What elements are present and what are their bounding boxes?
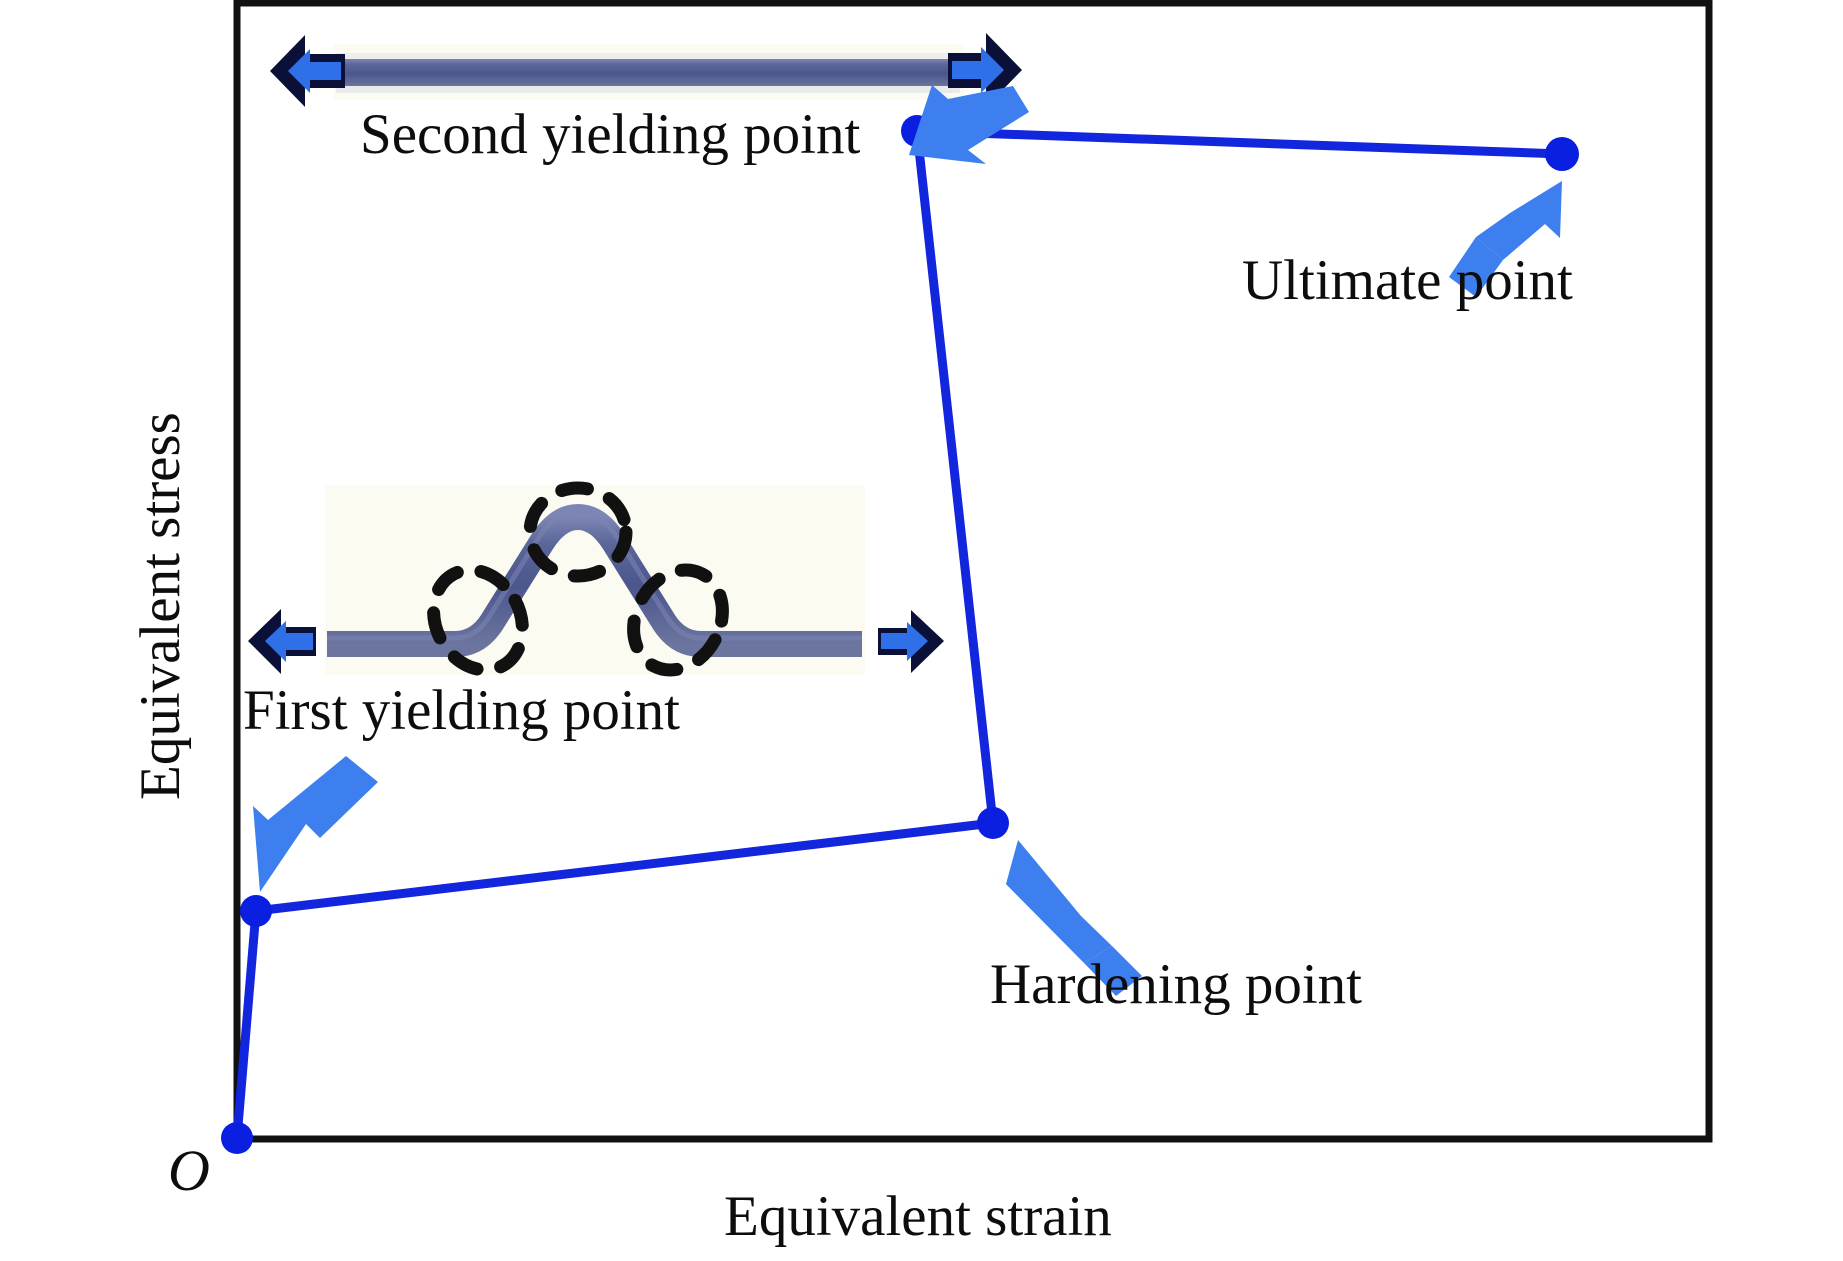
buckled-bar-specimen	[248, 485, 944, 686]
marker-ultimate-point[interactable]	[1545, 137, 1579, 171]
label-first-yielding-point: First yielding point	[243, 682, 680, 739]
y-axis-label: Equivalent stress	[132, 412, 189, 800]
marker-hardening-point[interactable]	[977, 807, 1009, 839]
marker-origin[interactable]	[221, 1122, 253, 1154]
label-ultimate-point: Ultimate point	[1242, 252, 1573, 309]
origin-label: O	[168, 1142, 210, 1200]
straight-bar-body	[340, 59, 956, 86]
straight-bar-specimen	[270, 33, 1022, 107]
marker-first-yielding-point[interactable]	[240, 895, 272, 927]
x-axis-label: Equivalent strain	[724, 1188, 1112, 1245]
label-hardening-point: Hardening point	[990, 956, 1362, 1013]
stress-strain-figure: Second yielding point Ultimate point Fir…	[0, 0, 1843, 1261]
label-second-yielding-point: Second yielding point	[360, 106, 860, 163]
figure-canvas	[0, 0, 1843, 1261]
